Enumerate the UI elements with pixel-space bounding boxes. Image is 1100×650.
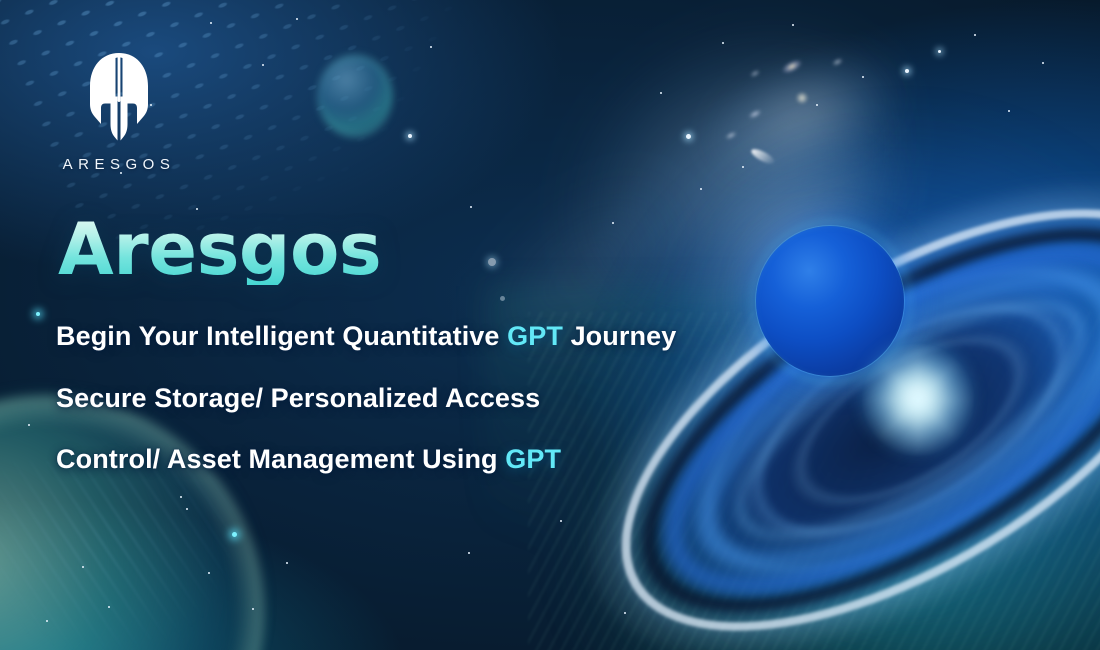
- page-title: Aresgos: [58, 213, 381, 285]
- hero-banner: ARESGOS Aresgos Begin Your Intelligent Q…: [0, 0, 1100, 650]
- tagline-1-highlight: GPT: [507, 321, 563, 351]
- tagline-2-pre: Secure Storage/ Personalized Access: [56, 383, 540, 413]
- hero-content: ARESGOS Aresgos Begin Your Intelligent Q…: [0, 0, 1100, 650]
- tagline-3: Control/ Asset Management Using GPT: [56, 445, 676, 475]
- tagline-1-post: Journey: [563, 321, 676, 351]
- brand-lockup[interactable]: ARESGOS: [54, 52, 184, 173]
- brand-wordmark: ARESGOS: [54, 156, 184, 173]
- tagline-2: Secure Storage/ Personalized Access: [56, 384, 676, 414]
- tagline-list: Begin Your Intelligent Quantitative GPT …: [56, 322, 676, 475]
- spartan-helmet-icon: [81, 52, 157, 144]
- tagline-3-pre: Control/ Asset Management Using: [56, 444, 505, 474]
- tagline-1-pre: Begin Your Intelligent Quantitative: [56, 321, 507, 351]
- tagline-3-highlight: GPT: [505, 444, 561, 474]
- tagline-1: Begin Your Intelligent Quantitative GPT …: [56, 322, 676, 352]
